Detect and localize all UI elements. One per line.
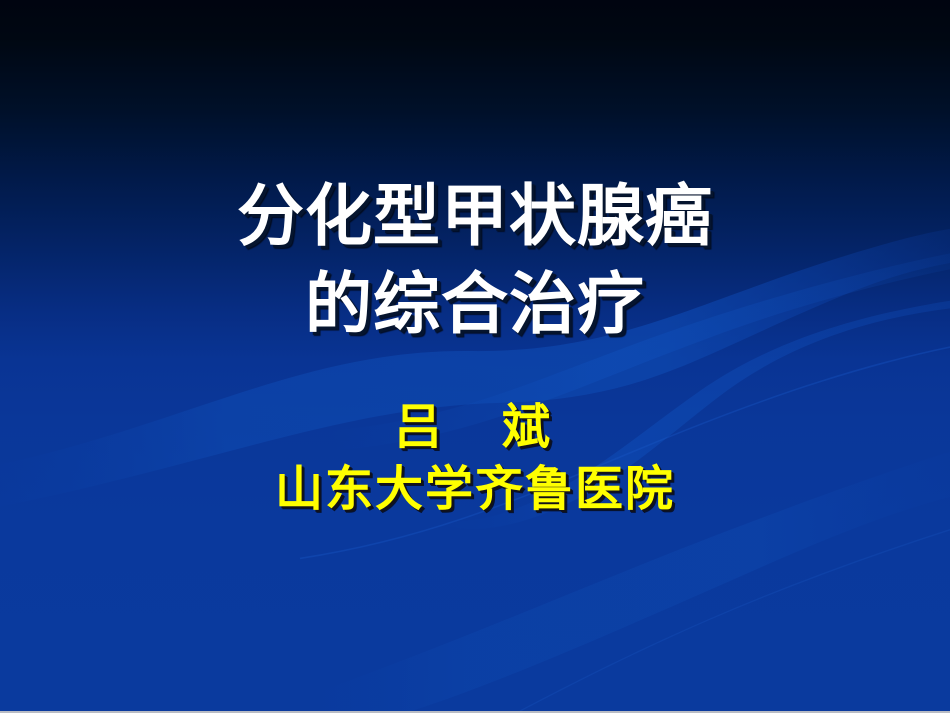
presentation-title-slide: 分化型甲状腺癌 的综合治疗 吕 斌 山东大学齐鲁医院 bbox=[0, 0, 950, 713]
slide-subtitle: 吕 斌 山东大学齐鲁医院 bbox=[0, 396, 950, 520]
title-line-1: 分化型甲状腺癌 bbox=[0, 172, 950, 260]
slide-content: 分化型甲状腺癌 的综合治疗 吕 斌 山东大学齐鲁医院 bbox=[0, 0, 950, 711]
slide-title: 分化型甲状腺癌 的综合治疗 bbox=[0, 172, 950, 348]
title-line-2: 的综合治疗 bbox=[0, 260, 950, 348]
author-name: 吕 斌 bbox=[0, 396, 950, 458]
author-affiliation: 山东大学齐鲁医院 bbox=[0, 458, 950, 520]
